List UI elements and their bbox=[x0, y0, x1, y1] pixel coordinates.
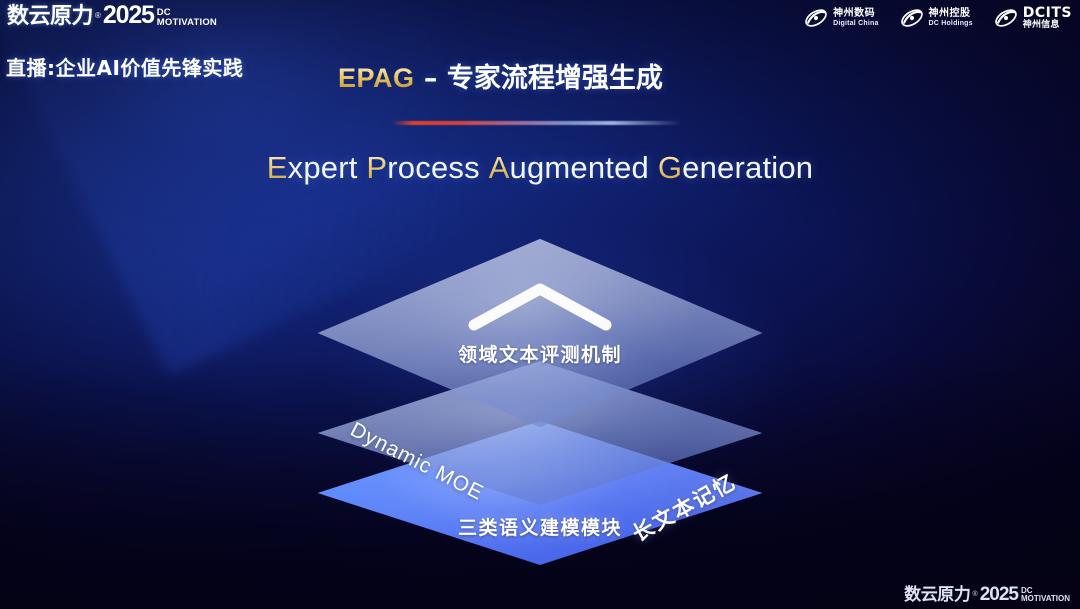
chevron-up-icon bbox=[464, 279, 616, 333]
watermark-dc: DC MOTIVATION bbox=[1021, 587, 1070, 604]
stack-layer-bottom-label: 三类语义建模模块 bbox=[313, 513, 767, 540]
layer-rim bbox=[313, 235, 767, 431]
layered-stack-diagram: 三类语义建模模块 Dynamic MOE 长文本记忆 领域文本评测机制 bbox=[0, 0, 1080, 609]
watermark-dc-line2: MOTIVATION bbox=[1021, 595, 1070, 603]
footer-watermark: 数云原力 ® 2025 DC MOTIVATION bbox=[904, 585, 1070, 604]
stack-layer-top[interactable]: 领域文本评测机制 bbox=[313, 235, 767, 431]
watermark-year: 2025 bbox=[980, 585, 1018, 604]
watermark-registered: ® bbox=[973, 591, 978, 598]
watermark-cn: 数云原力 bbox=[904, 587, 970, 604]
slide-canvas: 数云原力 ® 2025 DC MOTIVATION 直播:企业AI价值先锋实践 … bbox=[0, 0, 1080, 609]
stack-layer-top-label: 领域文本评测机制 bbox=[313, 340, 767, 367]
